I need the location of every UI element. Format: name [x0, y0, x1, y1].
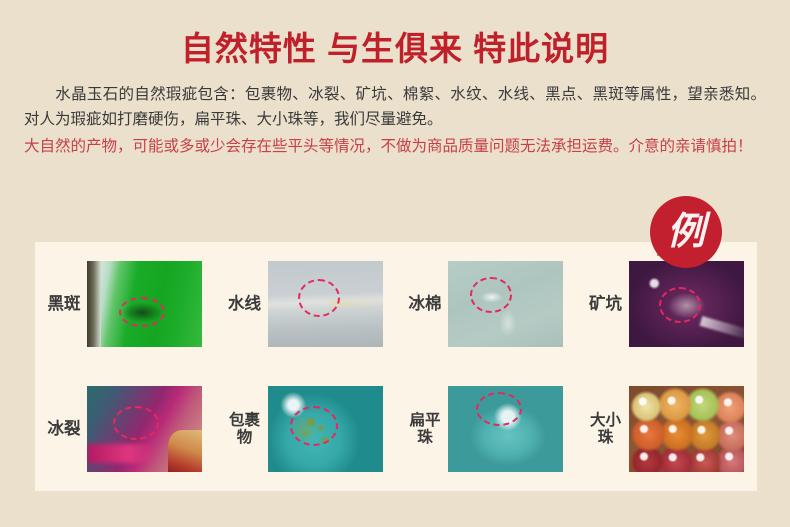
example-photo-shuixian	[268, 261, 383, 347]
defect-marker-bingmian	[470, 277, 512, 313]
defect-marker-kuangkeng	[659, 287, 701, 323]
example-cell-baoguo: 包裹物	[216, 386, 397, 472]
example-label-heiban: 黑斑	[47, 295, 81, 313]
promo-page: 自然特性 与生俱来 特此说明 水晶玉石的自然瑕疵包含：包裹物、冰裂、矿坑、棉絮、…	[0, 0, 790, 527]
example-cell-daxiao: 大小珠	[577, 386, 758, 472]
example-photo-baoguo	[268, 386, 383, 472]
defect-marker-bingli	[113, 406, 159, 440]
example-badge-bubble: 例	[650, 196, 722, 268]
intro-paragraph-dark: 水晶玉石的自然瑕疵包含：包裹物、冰裂、矿坑、棉絮、水纹、水线、黑点、黑斑等属性，…	[24, 82, 766, 132]
example-cell-heiban: 黑斑	[35, 261, 216, 347]
intro-paragraph-red: 大自然的产物，可能或多或少会存在些平头等情况，不做为商品质量问题无法承担运费。介…	[24, 134, 766, 159]
photo-surface-daxiao	[629, 386, 744, 472]
example-label-bingli: 冰裂	[47, 420, 81, 438]
example-photo-bingmian	[448, 261, 563, 347]
example-photo-bingli	[87, 386, 202, 472]
example-label-baoguo: 包裹物	[228, 412, 262, 446]
defect-marker-baoguo	[290, 406, 338, 446]
examples-row-1: 黑斑 水线 冰棉 矿坑	[35, 242, 757, 367]
example-label-kuangkeng: 矿坑	[589, 295, 623, 313]
example-photo-daxiao	[629, 386, 744, 472]
examples-panel: 黑斑 水线 冰棉 矿坑	[35, 242, 757, 491]
example-photo-heiban	[87, 261, 202, 347]
intro-paragraph-1-text: 水晶玉石的自然瑕疵包含：包裹物、冰裂、矿坑、棉絮、水纹、水线、黑点、黑斑等属性，…	[24, 86, 766, 128]
example-cell-shuixian: 水线	[216, 261, 397, 347]
example-badge: 例	[650, 196, 728, 282]
example-cell-bingmian: 冰棉	[396, 261, 577, 347]
defect-marker-shuixian	[298, 279, 340, 317]
example-label-shuixian: 水线	[228, 295, 262, 313]
example-photo-bianping	[448, 386, 563, 472]
example-label-bianping: 扁平珠	[408, 412, 442, 446]
example-cell-bingli: 冰裂	[35, 386, 216, 472]
examples-row-2: 冰裂 包裹物 扁平珠	[35, 367, 757, 492]
defect-marker-bianping	[476, 392, 522, 426]
example-cell-bianping: 扁平珠	[396, 386, 577, 472]
example-badge-label: 例	[667, 213, 705, 251]
example-label-bingmian: 冰棉	[408, 295, 442, 313]
example-label-daxiao: 大小珠	[589, 412, 623, 446]
page-title: 自然特性 与生俱来 特此说明	[0, 0, 790, 68]
